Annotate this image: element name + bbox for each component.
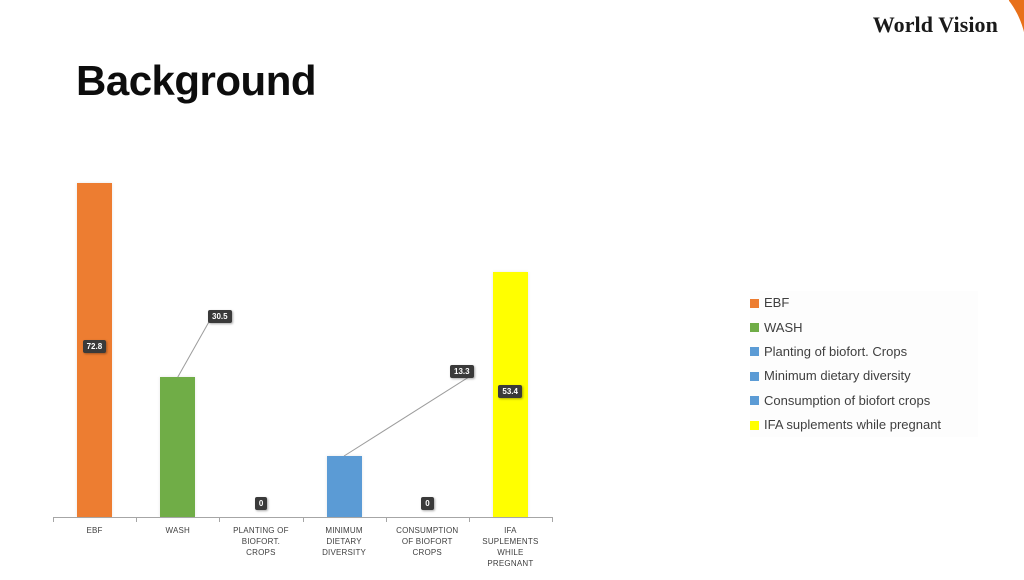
data-label: 0 [421, 497, 433, 510]
category-label: PLANTING OFBIOFORT.CROPS [219, 525, 302, 558]
legend-label: WASH [764, 321, 803, 335]
category-label: MINIMUMDIETARYDIVERSITY [303, 525, 386, 558]
legend-item[interactable]: Consumption of biofort crops [750, 389, 978, 413]
x-axis-tick [552, 517, 553, 522]
chart-legend: EBFWASHPlanting of biofort. CropsMinimum… [750, 291, 978, 437]
x-axis-tick [219, 517, 220, 522]
legend-label: Minimum dietary diversity [764, 369, 911, 383]
legend-item[interactable]: EBF [750, 291, 978, 315]
data-label: 53.4 [498, 385, 522, 398]
x-axis-tick [386, 517, 387, 522]
legend-label: IFA suplements while pregnant [764, 418, 941, 432]
data-label: 30.5 [208, 310, 232, 323]
legend-swatch [750, 421, 759, 430]
slide: World Vision Background 72.830.5013.3053… [0, 0, 1024, 576]
legend-swatch [750, 323, 759, 332]
world-vision-logo: World Vision [844, 0, 1024, 46]
legend-swatch [750, 396, 759, 405]
legend-label: EBF [764, 296, 789, 310]
x-axis-tick [303, 517, 304, 522]
data-label: 72.8 [83, 340, 107, 353]
legend-item[interactable]: Minimum dietary diversity [750, 364, 978, 388]
category-label: EBF [53, 525, 136, 536]
leader-line [40, 150, 570, 517]
legend-label: Consumption of biofort crops [764, 394, 930, 408]
legend-label: Planting of biofort. Crops [764, 345, 907, 359]
x-axis-tick [53, 517, 54, 522]
legend-item[interactable]: Planting of biofort. Crops [750, 340, 978, 364]
x-axis-tick [136, 517, 137, 522]
category-label: IFASUPLEMENTSWHILEPREGNANT [469, 525, 552, 569]
data-label: 0 [255, 497, 267, 510]
legend-item[interactable]: WASH [750, 315, 978, 339]
legend-item[interactable]: IFA suplements while pregnant [750, 413, 978, 437]
legend-swatch [750, 372, 759, 381]
category-label: WASH [136, 525, 219, 536]
data-label: 13.3 [450, 365, 474, 378]
x-axis-tick [469, 517, 470, 522]
bar-chart: 72.830.5013.3053.4 EBFWASHPLANTING OFBIO… [40, 150, 570, 580]
logo-wordmark: World Vision [873, 12, 998, 38]
category-label: CONSUMPTIONOF BIOFORTCROPS [386, 525, 469, 558]
page-title: Background [76, 60, 316, 102]
legend-swatch [750, 299, 759, 308]
legend-swatch [750, 347, 759, 356]
plot-area: 72.830.5013.3053.4 [40, 150, 570, 517]
